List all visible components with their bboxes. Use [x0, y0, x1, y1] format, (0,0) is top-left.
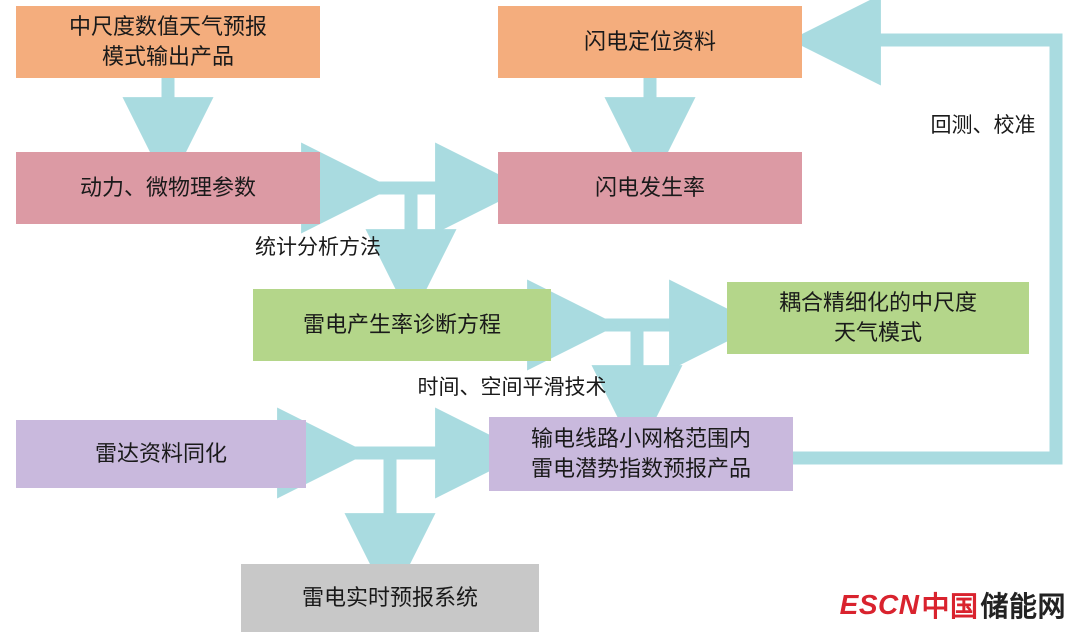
- node-realtime-lightning-forecast-system[interactable]: 雷电实时预报系统: [241, 564, 539, 632]
- arrow-feedback-loop: [793, 40, 1056, 458]
- node-dynamic-microphysical-params[interactable]: 动力、微物理参数: [16, 152, 320, 224]
- node-lightning-production-rate-equation[interactable]: 雷电产生率诊断方程: [253, 289, 551, 361]
- node-radar-data-assimilation[interactable]: 雷达资料同化: [16, 420, 306, 488]
- node-lightning-location-data[interactable]: 闪电定位资料: [498, 6, 802, 78]
- node-coupled-refined-mesoscale-model[interactable]: 耦合精细化的中尺度 天气模式: [727, 282, 1029, 354]
- watermark-rest: 储能网: [980, 585, 1066, 625]
- node-mesoscale-nwp-output[interactable]: 中尺度数值天气预报 模式输出产品: [16, 6, 320, 78]
- watermark: ESCN 中国 储能网: [840, 585, 1066, 625]
- watermark-cn: 中国: [921, 585, 978, 625]
- node-lightning-flash-rate[interactable]: 闪电发生率: [498, 152, 802, 224]
- diagram-canvas: 中尺度数值天气预报 模式输出产品 闪电定位资料 动力、微物理参数 闪电发生率 雷…: [0, 0, 1080, 635]
- edge-label-statistical-analysis: 统计分析方法: [218, 234, 418, 261]
- watermark-escn: ESCN: [840, 589, 920, 621]
- node-transmission-line-lightning-index[interactable]: 输电线路小网格范围内 雷电潜势指数预报产品: [489, 417, 793, 491]
- edge-label-smoothing-technique: 时间、空间平滑技术: [382, 374, 642, 401]
- edge-label-backtest-calibration: 回测、校准: [908, 112, 1058, 139]
